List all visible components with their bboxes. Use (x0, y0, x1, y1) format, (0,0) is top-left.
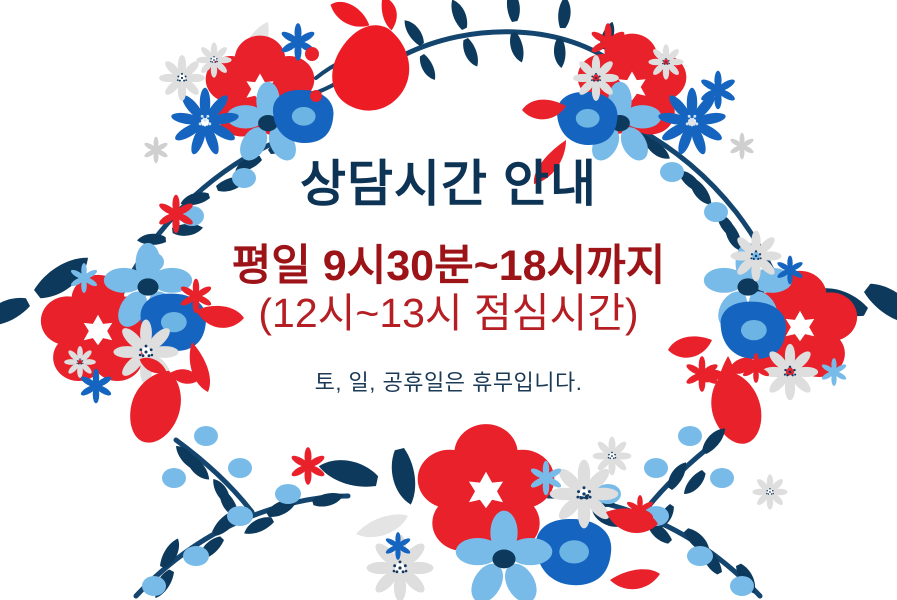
poster-canvas: 상담시간 안내 평일 9시30분~18시까지 (12시~13시 점심시간) 토,… (0, 0, 897, 600)
lunch-break-line: (12시~13시 점심시간) (258, 291, 638, 335)
business-hours-line: 평일 9시30분~18시까지 (232, 243, 666, 289)
page-title: 상담시간 안내 (300, 158, 597, 211)
closed-days-line: 토, 일, 공휴일은 휴무입니다. (315, 371, 583, 395)
poster-text-block: 상담시간 안내 평일 9시30분~18시까지 (12시~13시 점심시간) 토,… (0, 0, 897, 600)
